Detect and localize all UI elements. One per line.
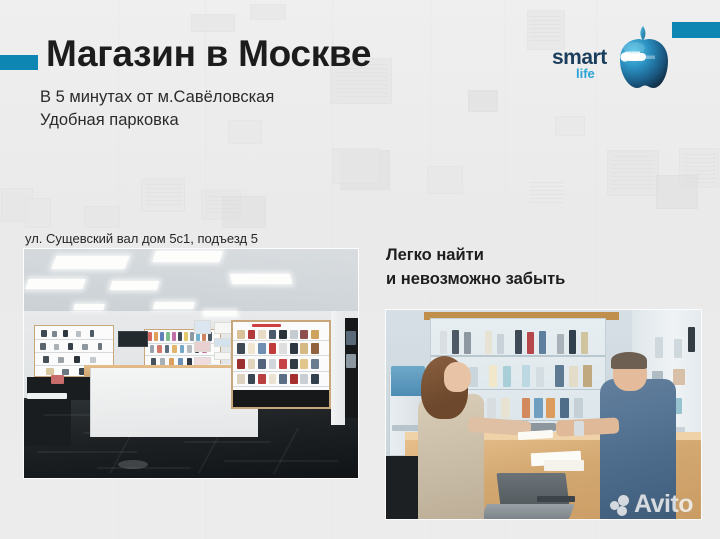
accent-bar-left xyxy=(0,55,38,70)
slogan-line-2: и невозможно забыть xyxy=(386,267,565,291)
slide-canvas: Магазин в Москве В 5 минутах от м.Савёло… xyxy=(0,0,720,539)
subtitle-line-1: В 5 минутах от м.Савёловская xyxy=(40,86,274,109)
brand-logo: smart life xyxy=(552,22,672,92)
consultation-photo xyxy=(386,310,701,519)
brand-wordmark-life: life xyxy=(576,66,595,81)
page-title: Магазин в Москве xyxy=(46,33,371,75)
page-subtitle: В 5 минутах от м.Савёловская Удобная пар… xyxy=(40,86,274,132)
slogan-line-1: Легко найти xyxy=(386,243,565,267)
avito-dots-icon xyxy=(610,494,631,516)
apple-icon xyxy=(610,22,670,97)
address-caption: ул. Сущевский вал дом 5с1, подъезд 5 xyxy=(25,231,258,246)
store-interior-photo xyxy=(24,249,358,478)
avito-wordmark: Avito xyxy=(634,492,693,517)
slogan-text: Легко найти и невозможно забыть xyxy=(386,243,565,291)
accent-bar-right xyxy=(672,22,720,38)
subtitle-line-2: Удобная парковка xyxy=(40,109,274,132)
avito-watermark: Avito xyxy=(610,492,693,517)
